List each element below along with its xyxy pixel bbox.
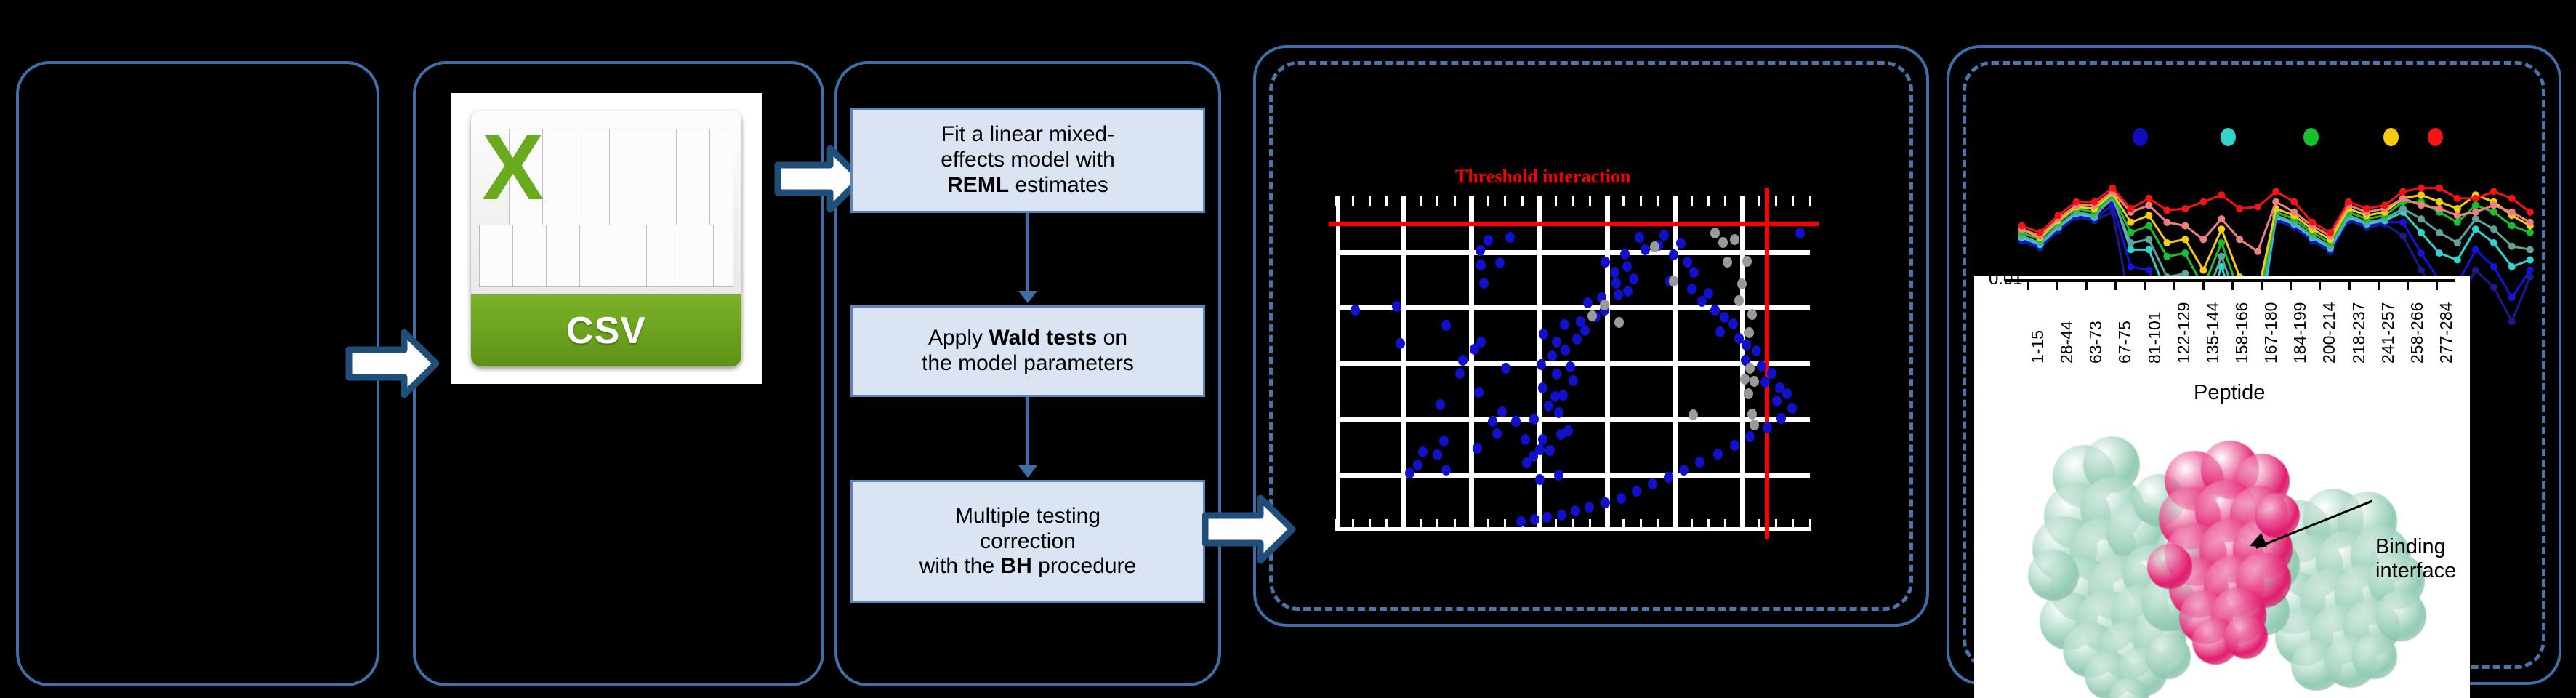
peptide-series-marker [2145,236,2152,243]
peptide-series-marker [2527,267,2534,274]
peptide-series-marker [2236,236,2243,243]
scatter-tick [1335,196,1337,206]
peptide-series-marker [2490,263,2497,270]
peptide-series-marker [2181,205,2189,212]
scatter-point [1744,388,1753,399]
scatter-point [1620,249,1630,260]
scatter-point [1554,470,1563,481]
scatter-point [1629,273,1638,284]
peptide-series-marker [2527,229,2534,236]
scatter-point [1617,493,1626,504]
scatter-tick [1622,519,1625,531]
scatter-point [1488,416,1497,427]
peptide-axis-title: Peptide [2194,381,2265,405]
protein-surface-blob [2224,615,2268,659]
scatter-tick [1470,519,1473,531]
peptide-tick-label: 158-166 [2232,302,2252,364]
peptide-series-marker [2345,198,2352,206]
peptide-tick-mark [2348,282,2351,290]
scatter-gridline-h [1336,305,1810,310]
peptide-series-marker [2181,222,2189,230]
scatter-point [1747,309,1757,320]
panel-1-empty [16,61,379,686]
protein-surface-blob [2146,634,2191,679]
peptide-x-axis-line [2005,279,2455,282]
peptide-series-marker [2199,236,2207,243]
peptide-tick-mark [2144,282,2146,290]
peptide-series-marker [2418,229,2425,236]
threshold-interaction-label: Threshold interaction [1455,166,1630,188]
scatter-point [1479,278,1489,289]
peptide-series-marker [2055,212,2062,219]
scatter-point [1635,232,1644,243]
scatter-point [1683,257,1692,268]
scatter-tick [1352,196,1354,206]
peptide-series-marker [2145,195,2152,202]
scatter-tick [1741,196,1743,206]
scatter-tick [1589,519,1591,531]
peptide-series-marker [2109,185,2116,192]
peptide-series-marker [2018,222,2026,230]
peptide-tick-label: 135-144 [2203,302,2223,364]
scatter-point [1795,228,1805,238]
peptide-tick-label: 28-44 [2057,321,2077,364]
peptide-series-marker [2272,198,2279,206]
connector-head-bh [1018,465,1037,478]
scatter-tick [1792,196,1794,206]
peptide-tick-mark [2114,282,2117,290]
scatter-point [1455,368,1465,379]
peptide-series-marker [2254,204,2261,211]
peptide-tick-label: 200-214 [2319,302,2339,364]
peptide-series-marker [2290,209,2298,216]
scatter-tick [1640,519,1642,531]
peptide-series-marker [2527,209,2534,216]
peptide-series-marker [2490,209,2497,216]
peptide-tick-mark [2027,282,2029,290]
csv-sheet-area: X [471,111,741,294]
scatter-point [1763,422,1772,433]
peptide-tick-label: 63-73 [2086,321,2106,364]
scatter-tick [1775,196,1777,206]
scatter-point [1750,376,1759,387]
protein-figure-card: Binding interface [1974,407,2470,698]
scatter-tick [1555,196,1557,206]
peptide-tick-label: 1-15 [2028,330,2048,364]
scatter-point [1611,278,1621,289]
scatter-point [1601,497,1610,508]
scatter-point [1720,312,1729,323]
peptide-series-marker [2218,253,2225,260]
scatter-point [1529,414,1539,425]
binding-interface-callout: Binding interface [2375,535,2456,584]
scatter-point [1563,425,1573,436]
scatter-point [1484,235,1493,246]
scatter-point [1351,305,1360,316]
scatter-point [1614,317,1624,328]
scatter-tick [1691,519,1693,531]
scatter-point [1659,230,1669,241]
peptide-tick-label: 167-180 [2261,302,2281,364]
scatter-point [1505,232,1515,243]
peptide-series-marker [2037,229,2044,236]
scatter-tick [1454,196,1456,206]
peptide-series-marker [2199,198,2207,206]
scatter-point [1622,261,1632,272]
scatter-point [1744,327,1754,338]
scatter-point [1511,416,1521,427]
scatter-point [1418,446,1428,457]
peptide-series-marker [2472,225,2479,233]
peptide-tick-mark [2378,282,2380,290]
peptide-series-marker [2418,191,2425,198]
peptide-series-marker [2490,284,2497,291]
peptide-series-marker [2508,222,2516,230]
peptide-series-marker [2436,249,2443,257]
peptide-tick-label: 184-199 [2290,302,2310,364]
peptide-tick-mark [2261,282,2263,290]
scatter-tick [1606,519,1608,531]
scatter-point [1614,289,1623,300]
scatter-tick [1589,196,1591,206]
scatter-tick [1657,519,1659,531]
scatter-point [1521,434,1530,445]
peptide-series-marker [2399,233,2407,240]
scatter-point [1544,401,1553,412]
peptide-tick-label: 277-284 [2436,302,2456,364]
scatter-tick [1335,519,1337,531]
process-box-bh-text: Multiple testing correction with the BH … [919,504,1137,579]
scatter-point [1742,340,1751,350]
scatter-point [1710,305,1720,316]
peptide-series-marker [2163,239,2170,246]
peptide-tick-mark [2231,282,2234,290]
scatter-point [1501,363,1510,374]
peptide-tick-label: 258-266 [2407,302,2427,364]
scatter-point [1497,406,1507,417]
scatter-point [1576,316,1585,327]
scatter-tick [1758,519,1760,531]
peptide-series-marker [2399,195,2407,202]
scatter-tick [1809,519,1811,531]
scatter-tick [1504,196,1506,206]
peptide-series-marker [2218,215,2225,222]
scatter-tick [1691,196,1693,206]
scatter-point [1787,403,1797,414]
scatter-point [1433,449,1442,460]
scatter-tick [1436,519,1438,531]
scatter-tick [1758,196,1760,206]
peptide-series-marker [2327,229,2334,236]
scatter-point [1561,345,1570,356]
scatter-tick [1369,196,1371,206]
scatter-tick [1436,196,1438,206]
peptide-tick-label: 81-101 [2145,311,2165,364]
peptide-series-marker [2527,257,2534,264]
scatter-point [1676,238,1686,249]
peptide-series-marker [2309,219,2316,226]
csv-type-label: CSV [471,294,741,366]
peptide-series-marker [2163,219,2170,226]
peptide-series-marker [2127,219,2134,226]
peptide-tick-mark [2085,282,2088,290]
scatter-tick [1775,519,1777,531]
scatter-tick [1420,519,1422,531]
scatter-point [1558,390,1568,401]
peptide-series-marker [2236,205,2243,212]
scatter-tick [1724,196,1726,206]
scatter-point [1552,369,1561,380]
peptide-tick-label: 67-75 [2115,321,2135,364]
peptide-series-marker [2127,205,2134,212]
scatter-point [1752,345,1761,356]
scatter-point [1538,434,1547,445]
scatter-tick [1640,196,1642,206]
peptide-tick-mark [2056,282,2058,290]
scatter-tick [1470,196,1473,206]
peptide-series-marker [2508,294,2516,301]
scatter-point [1669,249,1678,260]
scatter-tick [1572,519,1574,531]
scatter-tick [1606,196,1608,206]
protein-surface-blob [2147,544,2192,589]
scatter-tick [1741,519,1743,531]
scatter-point [1750,420,1759,430]
scatter-point [1476,245,1485,256]
protein-surface-blob [2375,590,2426,641]
scatter-point [1745,363,1755,374]
scatter-point [1641,244,1650,255]
scatter-point [1552,337,1561,348]
peptide-series-marker [2490,239,2497,246]
scatter-tick [1724,519,1726,531]
peptide-series-marker [2454,239,2461,246]
process-box-bh: Multiple testing correction with the BH … [850,480,1205,603]
peptide-series-marker [2508,318,2516,325]
process-box-wald: Apply Wald tests on the model parameters [850,305,1205,397]
scatter-point [1728,318,1738,329]
scatter-point [1772,396,1782,406]
peptide-series-marker [2436,229,2443,236]
scatter-point [1542,512,1552,523]
scatter-point [1623,286,1633,297]
connector-wald-to-bh [1026,397,1029,468]
peptide-series-marker [2490,201,2497,209]
scatter-tick [1572,196,1574,206]
peptide-series-marker [2418,185,2425,192]
peptide-series-marker [2399,188,2407,196]
peptide-series-marker [2436,205,2443,212]
scatter-point [1747,409,1757,420]
peptide-y-tick-value: 0.01 [1989,269,2023,289]
scatter-point [1650,241,1659,252]
scatter-point [1458,355,1468,366]
scatter-tick [1809,196,1811,206]
peptide-series-marker [2508,243,2516,250]
scatter-point [1569,375,1578,386]
peptide-series-marker [2218,191,2225,198]
process-box-reml: Fit a linear mixed- effects model with R… [850,108,1205,213]
peptide-series-marker [2399,219,2407,226]
peptide-series-marker [2454,257,2461,264]
scatter-tick [1504,519,1506,531]
connector-head-wald [1018,291,1037,303]
scatter-tick [1385,196,1388,206]
peptide-series-marker [2163,253,2170,260]
scatter-tick [1673,196,1675,206]
scatter-point [1441,465,1451,476]
scatter-point [1713,449,1723,460]
scatter-point [1474,387,1484,398]
scatter-point [1715,326,1725,337]
peptide-series-marker [2127,246,2134,253]
scatter-point [1441,320,1451,331]
peptide-series-marker [2436,185,2443,192]
scatter-point [1572,334,1582,345]
excel-x-letter: X [482,121,590,217]
scatter-point [1723,257,1732,268]
scatter-point [1718,237,1728,248]
scatter-tick [1538,196,1540,206]
scatter-tick [1487,519,1489,531]
scatter-point [1648,478,1657,489]
scatter-tick [1622,196,1625,206]
scatter-point [1560,319,1569,330]
peptide-series-marker [2454,195,2461,202]
protein-surface-blob [2028,550,2079,601]
scatter-point [1730,440,1739,451]
peptide-series-marker [2472,246,2479,253]
scatter-tick [1420,196,1422,206]
peptide-series-marker [2472,267,2479,274]
scatter-point [1745,431,1755,442]
scatter-tick [1403,196,1405,206]
peptide-series-marker [2363,205,2370,212]
scatter-point [1545,445,1555,456]
scatter-point [1610,267,1619,278]
scatter-tick [1521,196,1524,206]
peptide-tick-label: 241-257 [2378,302,2398,364]
peptide-tick-mark [2290,282,2292,290]
scatter-point [1439,436,1449,446]
scatter-point [1539,329,1548,340]
scatter-point [1687,284,1696,294]
scatter-tick [1707,519,1710,531]
peptide-series-marker [2418,201,2425,209]
peptide-series-marker [2508,209,2516,216]
scatter-tick [1555,519,1557,531]
peptide-series-marker [2199,267,2207,274]
peptide-series-marker [2090,198,2098,206]
scatter-point [1585,502,1594,513]
scatter-point [1632,486,1641,497]
scatter-point [1734,295,1744,306]
csv-grid-lower [479,225,733,287]
peptide-tick-mark [2407,282,2409,290]
scatter-point [1689,267,1699,278]
scatter-tick [1487,196,1489,206]
peptide-series-marker [2454,219,2461,226]
peptide-tick-mark [2436,282,2438,290]
scatter-point [1495,257,1505,268]
scatter-point [1476,260,1486,270]
scatter-point [1600,300,1609,310]
peptide-series-marker [2418,267,2425,274]
peptide-series-marker [2527,246,2534,253]
scatter-tick [1657,196,1659,206]
scatter-point [1476,337,1486,348]
peptide-series-marker [2472,195,2479,202]
scatter-point [1566,361,1575,372]
scatter-point [1742,256,1752,267]
scatter-point [1492,428,1502,439]
scatter-point [1535,474,1545,485]
protein-surface-blob [2352,634,2397,679]
scatter-tick [1369,519,1371,531]
scatter-point [1737,278,1747,289]
peptide-series-marker [2272,188,2279,196]
peptide-series-marker [2145,267,2152,274]
peptide-tick-mark [2319,282,2321,290]
peptide-series-marker [2418,215,2425,222]
peptide-series-marker [2490,225,2497,233]
scatter-point [1697,296,1707,307]
scatter-point [1669,276,1678,286]
scatter-point [1587,310,1597,321]
scatter-point [1537,359,1546,370]
scatter-tick [1707,196,1710,206]
peptide-series-marker [2508,263,2516,270]
peptide-series-marker [2418,249,2425,257]
scatter-gridline-h [1336,417,1810,422]
arrow-3 [1201,492,1297,567]
peptide-series-marker [2454,205,2461,212]
peptide-series-marker [2163,206,2170,214]
peptide-series-marker [2145,222,2152,230]
peptide-series-marker [2127,239,2134,246]
peptide-tick-mark [2202,282,2205,290]
peptide-series-marker [2472,201,2479,209]
scatter-point [1571,505,1580,516]
callout-line-1: Binding [2375,535,2456,559]
process-box-wald-text: Apply Wald tests on the model parameters [922,326,1134,377]
peptide-series-marker [2472,209,2479,216]
callout-line-2: interface [2375,559,2456,583]
scatter-point [1557,510,1566,521]
scatter-point [1776,413,1786,424]
scatter-point [1767,368,1776,379]
scatter-point [1554,407,1563,418]
csv-file-icon: X CSV [471,111,741,366]
scatter-point [1535,444,1545,455]
scatter-tick [1385,519,1388,531]
scatter-point [1740,374,1750,385]
connector-reml-to-wald [1026,213,1029,293]
arrow-1 [345,326,440,401]
scatter-point [1516,516,1526,527]
scatter-point [1538,382,1547,393]
peptide-series-marker [2073,198,2080,206]
scatter-point [1695,457,1704,468]
threshold-interaction-line [1329,222,1819,226]
peptide-series-marker [2145,212,2152,219]
peptide-series-marker [2436,198,2443,206]
scatter-point [1782,388,1792,399]
scatter-tick [1792,519,1794,531]
peptide-series-marker [2290,198,2298,206]
scatter-tick [1352,519,1354,531]
scatter-point [1601,257,1610,268]
